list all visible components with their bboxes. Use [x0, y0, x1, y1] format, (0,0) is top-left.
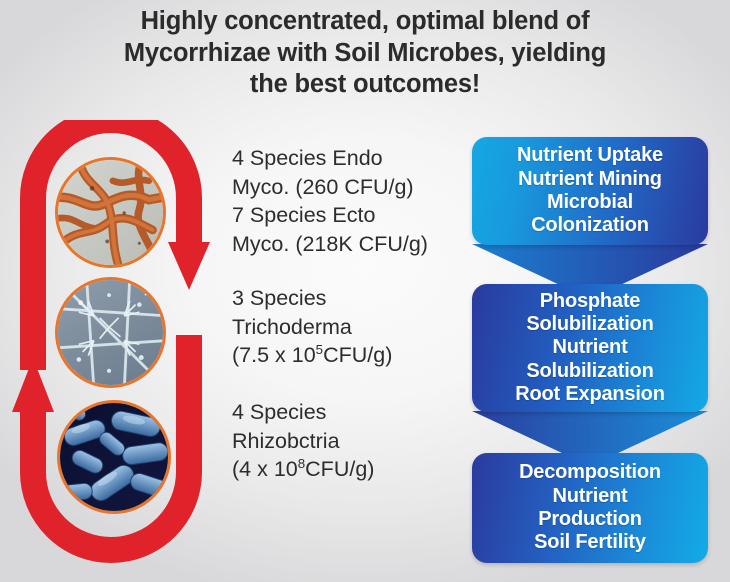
trichoderma-photo [55, 277, 166, 388]
rhizobacteria-photo [57, 400, 171, 514]
rhizobacteria-micrograph-art [60, 403, 168, 511]
infographic-root: Highly concentrated, optimal blend of My… [0, 0, 730, 582]
benefit-connector-2 [472, 411, 708, 453]
species-line: 4 Species [232, 398, 482, 427]
title-line-3: the best outcomes! [50, 69, 680, 101]
title-line-1: Highly concentrated, optimal blend of [50, 6, 680, 38]
mycorrhizae-micrograph-art [58, 160, 163, 265]
benefit-box-phosphate-solubilization[interactable]: Phosphate Solubilization Nutrient Solubi… [472, 284, 708, 412]
species-line: 3 Species [232, 284, 482, 313]
cycle-arrowhead-down [168, 242, 210, 290]
benefit-line: Microbial [517, 191, 663, 214]
benefit-box-text: Phosphate Solubilization Nutrient Solubi… [515, 290, 664, 407]
benefit-line: Nutrient [519, 485, 661, 508]
species-text-rhizobacteria: 4 Species Rhizobctria (4 x 108CFU/g) [232, 398, 482, 484]
benefit-line: Nutrient Mining [517, 168, 663, 191]
species-line: 7 Species Ecto [232, 201, 482, 230]
species-line: 4 Species Endo [232, 144, 482, 173]
species-cfu: (7.5 x 105CFU/g) [232, 341, 482, 370]
cfu-prefix: (7.5 x 10 [232, 343, 316, 367]
cfu-suffix: CFU/g) [305, 457, 374, 481]
benefit-line: Nutrient [515, 336, 664, 359]
benefit-line: Soil Fertility [519, 531, 661, 554]
cfu-suffix: CFU/g) [323, 343, 392, 367]
benefit-box-text: Nutrient Uptake Nutrient Mining Microbia… [517, 144, 663, 238]
title-line-2: Mycorrhizae with Soil Microbes, yielding [50, 38, 680, 70]
benefit-box-decomposition[interactable]: Decomposition Nutrient Production Soil F… [472, 453, 708, 563]
benefit-box-text: Decomposition Nutrient Production Soil F… [519, 461, 661, 555]
species-line: Rhizobctria [232, 427, 482, 456]
cfu-exponent: 5 [316, 342, 323, 357]
benefit-connector-1 [472, 244, 708, 286]
page-title: Highly concentrated, optimal blend of My… [50, 6, 680, 101]
species-line: Myco. (218K CFU/g) [232, 230, 482, 259]
benefit-line: Solubilization [515, 313, 664, 336]
endo-ecto-mycorrhizae-photo [55, 157, 166, 268]
benefit-line: Colonization [517, 214, 663, 237]
trichoderma-micrograph-art [58, 280, 163, 385]
species-line: Myco. (260 CFU/g) [232, 173, 482, 202]
species-text-trichoderma: 3 Species Trichoderma (7.5 x 105CFU/g) [232, 284, 482, 370]
species-line: Trichoderma [232, 313, 482, 342]
species-text-mycorrhizae: 4 Species Endo Myco. (260 CFU/g) 7 Speci… [232, 144, 482, 258]
benefit-line: Solubilization [515, 360, 664, 383]
cfu-prefix: (4 x 10 [232, 457, 298, 481]
species-cfu: (4 x 108CFU/g) [232, 455, 482, 484]
cycle-arrowhead-up [12, 358, 54, 412]
benefit-line: Decomposition [519, 461, 661, 484]
benefit-line: Phosphate [515, 290, 664, 313]
benefit-line: Production [519, 508, 661, 531]
benefit-box-nutrient-uptake[interactable]: Nutrient Uptake Nutrient Mining Microbia… [472, 137, 708, 245]
benefit-line: Nutrient Uptake [517, 144, 663, 167]
benefit-line: Root Expansion [515, 383, 664, 406]
